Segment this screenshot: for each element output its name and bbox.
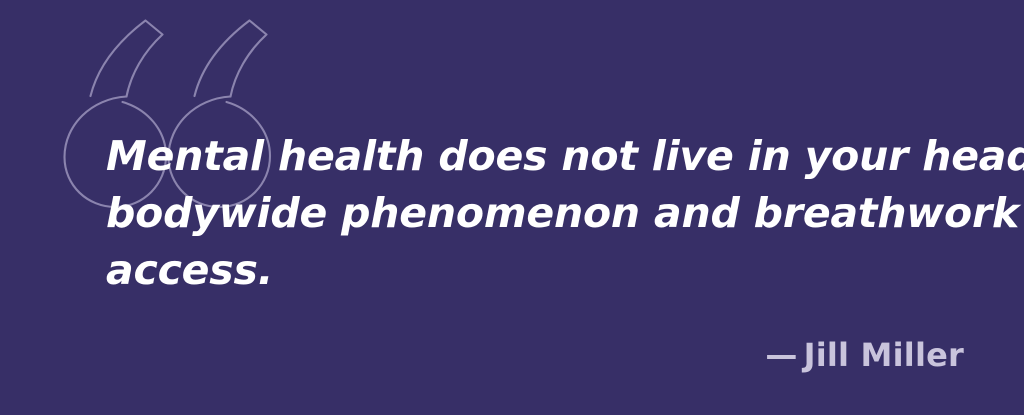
attribution-name: Jill Miller <box>804 336 964 374</box>
quote-line-1: Mental health does not live in your head… <box>106 128 986 185</box>
quote-line-2: bodywide phenomenon and breathwork gives… <box>106 185 986 242</box>
quote-card: Mental health does not live in your head… <box>0 0 1024 415</box>
quote-attribution: —Jill Miller <box>765 336 964 374</box>
quote-line-3: access. <box>106 242 986 299</box>
attribution-dash: — <box>765 336 797 374</box>
quote-text: Mental health does not live in your head… <box>106 128 986 299</box>
